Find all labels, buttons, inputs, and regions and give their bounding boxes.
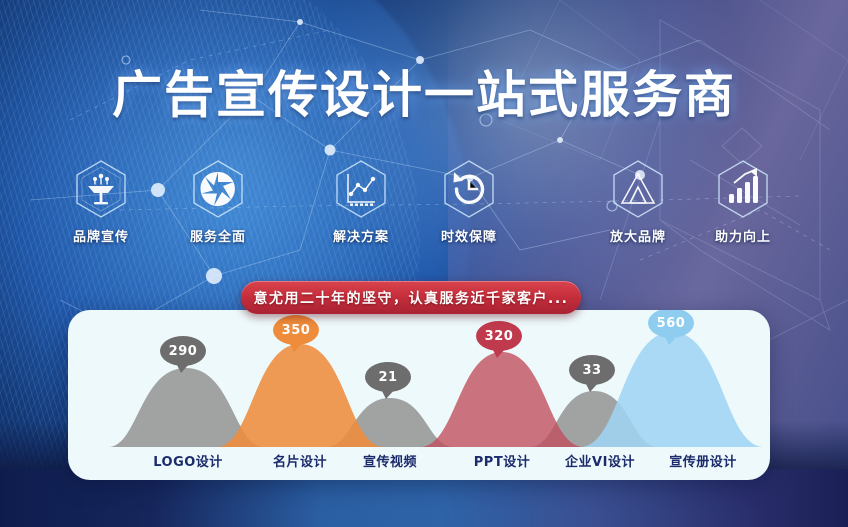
chart-x-axis-labels: LOGO设计 名片设计 宣传视频 PPT设计 企业VI设计 宣传册设计 — [68, 448, 770, 480]
analytics-chart-icon — [330, 158, 392, 220]
brand-megaphone-icon — [70, 158, 132, 220]
chart-panel: 290 350 21 320 33 560 LOGO设计 名片设计 宣传视频 P… — [68, 310, 770, 480]
feature-item-growth[interactable]: 助力向上 — [697, 158, 789, 245]
value-bubble-video: 21 — [365, 362, 411, 392]
aperture-icon — [187, 158, 249, 220]
x-label-logo: LOGO设计 — [128, 451, 248, 470]
feature-item-timeliness[interactable]: 时效保障 — [423, 158, 515, 245]
feature-item-solution[interactable]: 解决方案 — [315, 158, 407, 245]
promo-banner[interactable]: 意尤用二十年的坚守，认真服务近千家客户... — [241, 281, 581, 314]
feature-label: 放大品牌 — [592, 226, 684, 245]
feature-label: 品牌宣传 — [55, 226, 147, 245]
feature-icon-row: 品牌宣传 服务全面 — [0, 158, 848, 250]
feature-label: 服务全面 — [172, 226, 264, 245]
curve-card — [216, 344, 384, 447]
background-glow — [320, 0, 740, 310]
clock-rewind-icon — [438, 158, 500, 220]
promo-banner-text: 意尤用二十年的坚守，认真服务近千家客户... — [254, 288, 569, 308]
feature-item-amplify[interactable]: 放大品牌 — [592, 158, 684, 245]
feature-label: 解决方案 — [315, 226, 407, 245]
value-bubble-vi: 33 — [569, 355, 615, 385]
value-bubble-card: 350 — [273, 315, 319, 345]
x-label-brochure: 宣传册设计 — [628, 451, 770, 470]
curve-ppt — [420, 352, 584, 447]
value-bubble-logo: 290 — [160, 336, 206, 366]
page-title: 广告宣传设计一站式服务商 — [0, 55, 848, 127]
feature-item-brand[interactable]: 品牌宣传 — [55, 158, 147, 245]
feature-label: 助力向上 — [697, 226, 789, 245]
value-bubble-ppt: 320 — [476, 321, 522, 351]
feature-item-service[interactable]: 服务全面 — [172, 158, 264, 245]
feature-label: 时效保障 — [423, 226, 515, 245]
curve-brochure — [580, 332, 764, 447]
poster-canvas: 广告宣传设计一站式服务商 品牌宣传 — [0, 0, 848, 527]
triangle-pyramid-icon — [607, 158, 669, 220]
bar-growth-icon — [712, 158, 774, 220]
x-label-video: 宣传视频 — [330, 451, 450, 470]
